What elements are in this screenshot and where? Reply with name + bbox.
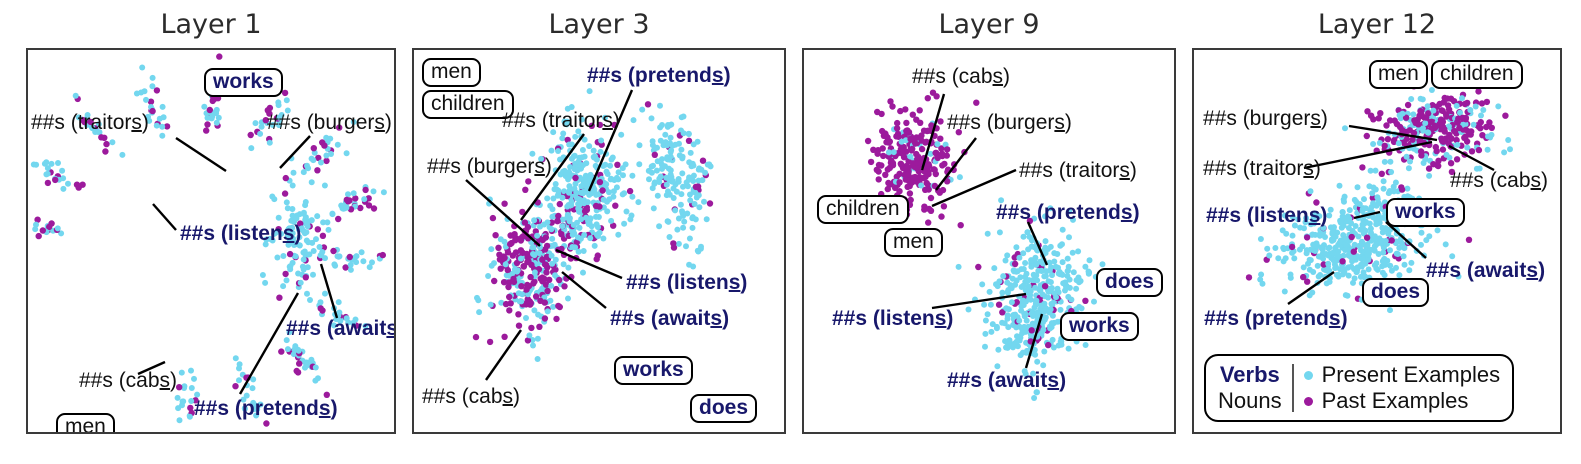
annotation-label-1-8: men (56, 413, 115, 432)
annotation-label-4-10: ##s (pretends) (1204, 308, 1348, 329)
scatter-panel-3: ##s (cabs)##s (burgers)##s (traitors)chi… (802, 48, 1176, 434)
panel-title-1: Layer 1 (26, 8, 396, 42)
legend-category-verbs: Verbs (1218, 362, 1282, 388)
annotation-label-3-7: does (1096, 268, 1163, 297)
annotation-label-2-5: ##s (burgers) (427, 156, 552, 177)
annotation-label-4-4: ##s (traitors) (1203, 158, 1321, 179)
annotation-label-3-8: ##s (listens) (832, 308, 953, 329)
annotation-label-4-2: children (1431, 60, 1523, 89)
annotation-label-3-4: children (817, 195, 909, 224)
annotation-label-2-1: men (422, 58, 481, 87)
legend-item-label: Present Examples (1322, 362, 1501, 388)
plot-area-3: ##s (cabs)##s (burgers)##s (traitors)chi… (804, 50, 1174, 432)
annotation-label-4-3: ##s (burgers) (1203, 108, 1328, 129)
annotation-label-4-8: ##s (awaits) (1426, 260, 1545, 281)
annotation-label-2-10: does (690, 394, 757, 423)
plot-area-4: menchildren##s (burgers)##s (traitors)##… (1194, 50, 1560, 432)
legend-dot-icon (1304, 397, 1313, 406)
annotation-label-4-9: does (1362, 278, 1429, 307)
scatter-panel-1: works##s (traitors)##s (burgers)##s (lis… (26, 48, 396, 434)
annotation-label-3-2: ##s (burgers) (947, 112, 1072, 133)
annotation-label-1-4: ##s (listens) (180, 223, 301, 244)
annotation-label-3-9: works (1060, 312, 1139, 341)
panel-title-4: Layer 12 (1192, 8, 1562, 42)
annotation-label-2-7: ##s (awaits) (610, 308, 729, 329)
annotation-label-1-7: ##s (pretends) (194, 398, 338, 419)
annotation-label-1-1: works (204, 68, 283, 97)
annotation-label-3-3: ##s (traitors) (1019, 160, 1137, 181)
legend-category-nouns: Nouns (1218, 388, 1282, 414)
annotation-label-3-1: ##s (cabs) (912, 66, 1010, 87)
annotation-label-4-5: ##s (cabs) (1450, 170, 1548, 191)
annotation-label-4-7: works (1386, 198, 1465, 227)
legend-dot-icon (1304, 371, 1313, 380)
annotation-label-2-6: ##s (listens) (626, 272, 747, 293)
panel-title-2: Layer 3 (412, 8, 786, 42)
annotation-label-1-6: ##s (cabs) (79, 370, 177, 391)
plot-area-2: men##s (pretends)children##s (traitors)#… (414, 50, 784, 432)
annotation-label-3-10: ##s (awaits) (947, 370, 1066, 391)
legend-item: Present Examples (1304, 362, 1501, 388)
annotation-label-2-4: ##s (traitors) (502, 110, 620, 131)
annotation-label-3-5: ##s (pretends) (996, 202, 1140, 223)
legend: VerbsNounsPresent ExamplesPast Examples (1204, 354, 1514, 422)
legend-item: Past Examples (1304, 388, 1501, 414)
figure-root: Layer 1works##s (traitors)##s (burgers)#… (0, 0, 1581, 464)
annotation-label-2-9: ##s (cabs) (422, 386, 520, 407)
annotation-label-4-1: men (1369, 60, 1428, 89)
plot-area-1: works##s (traitors)##s (burgers)##s (lis… (28, 50, 394, 432)
annotation-label-1-5: ##s (awaits) (286, 318, 394, 339)
annotation-label-2-2: ##s (pretends) (587, 65, 731, 86)
scatter-panel-4: menchildren##s (burgers)##s (traitors)##… (1192, 48, 1562, 434)
annotation-label-2-3: children (422, 90, 514, 119)
legend-item-label: Past Examples (1322, 388, 1469, 414)
annotation-label-3-6: men (884, 228, 943, 257)
legend-divider (1292, 364, 1294, 412)
annotation-label-4-6: ##s (listens) (1206, 205, 1327, 226)
panel-title-3: Layer 9 (802, 8, 1176, 42)
annotation-label-1-3: ##s (burgers) (267, 112, 392, 133)
scatter-panel-2: men##s (pretends)children##s (traitors)#… (412, 48, 786, 434)
annotation-label-2-8: works (614, 356, 693, 385)
annotation-label-1-2: ##s (traitors) (31, 112, 149, 133)
